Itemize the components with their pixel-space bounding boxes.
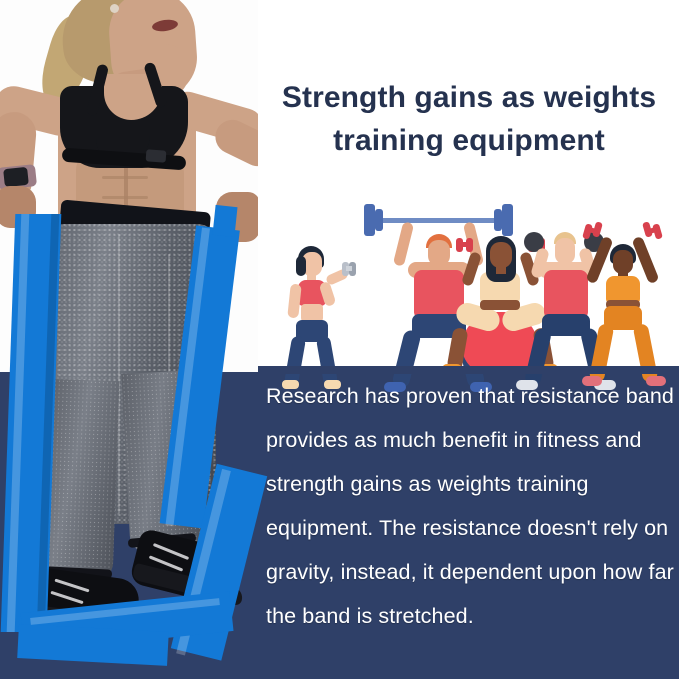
waistband — [480, 300, 520, 310]
abdomen-line — [102, 196, 148, 199]
illustration-strip — [258, 196, 679, 372]
ground-line — [258, 366, 679, 374]
barbell-plate — [364, 204, 375, 236]
dumbbell-bar — [346, 266, 352, 271]
abdomen-line — [102, 176, 148, 179]
earring — [110, 4, 119, 13]
barbell-plate — [502, 204, 513, 236]
neck — [496, 264, 506, 274]
barbell-plate — [494, 209, 502, 231]
resistance-band-grip — [212, 205, 237, 237]
smart-watch — [3, 167, 29, 187]
left-arm — [393, 221, 414, 266]
left-arm — [287, 284, 301, 319]
hair-side — [296, 256, 306, 276]
page-title: Strength gains as weights training equip… — [262, 76, 676, 162]
sports-bra-clasp — [146, 149, 167, 162]
body-text: Research has proven that resistance band… — [266, 374, 676, 638]
tank-top — [544, 270, 588, 318]
barbell-plate — [375, 209, 383, 231]
barbell-bar — [370, 218, 508, 223]
dumbbell-bar — [462, 242, 468, 247]
leggings-seam — [118, 234, 120, 514]
poster: Strength gains as weights training equip… — [0, 0, 679, 679]
